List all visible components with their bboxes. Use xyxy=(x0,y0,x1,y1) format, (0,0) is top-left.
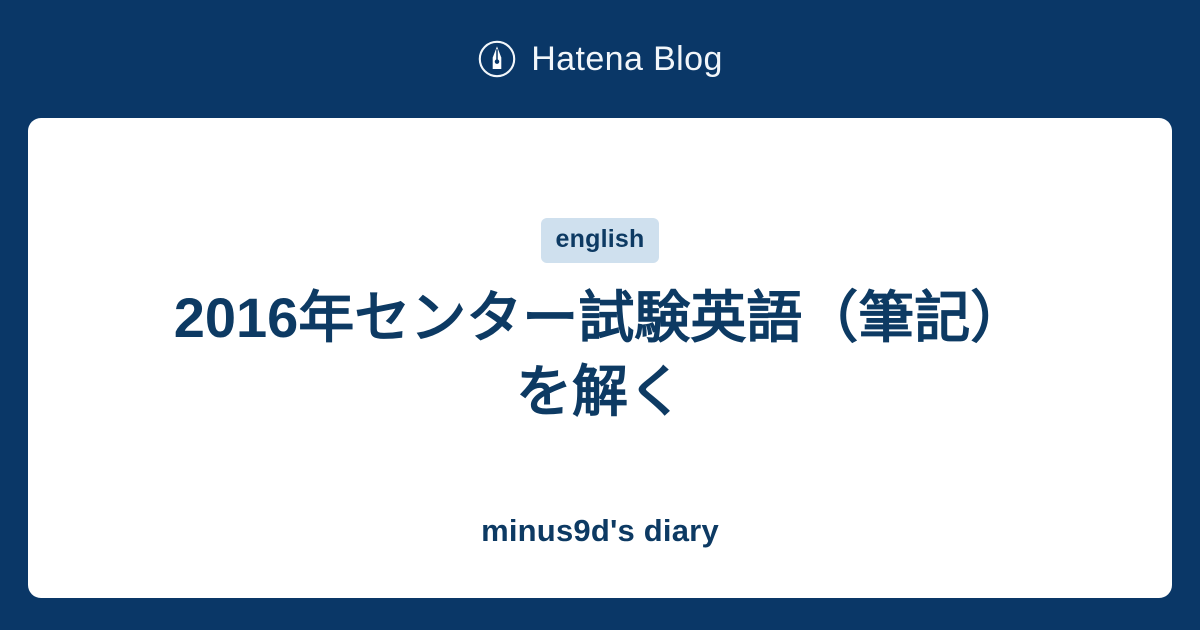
entry-card: english 2016年センター試験英語（筆記）を解く minus9d's d… xyxy=(28,118,1172,598)
brand-header: Hatena Blog xyxy=(0,0,1200,118)
entry-title: 2016年センター試験英語（筆記）を解く xyxy=(170,281,1030,429)
entry-card-body: english 2016年センター試験英語（筆記）を解く xyxy=(28,118,1172,515)
hatena-pen-nib-icon xyxy=(477,39,517,79)
brand-wordmark: Hatena Blog xyxy=(531,42,723,76)
og-image-canvas: Hatena Blog english 2016年センター試験英語（筆記）を解く… xyxy=(0,0,1200,630)
category-tag[interactable]: english xyxy=(541,218,660,263)
blog-name[interactable]: minus9d's diary xyxy=(481,515,719,546)
entry-card-footer: minus9d's diary xyxy=(28,515,1172,598)
